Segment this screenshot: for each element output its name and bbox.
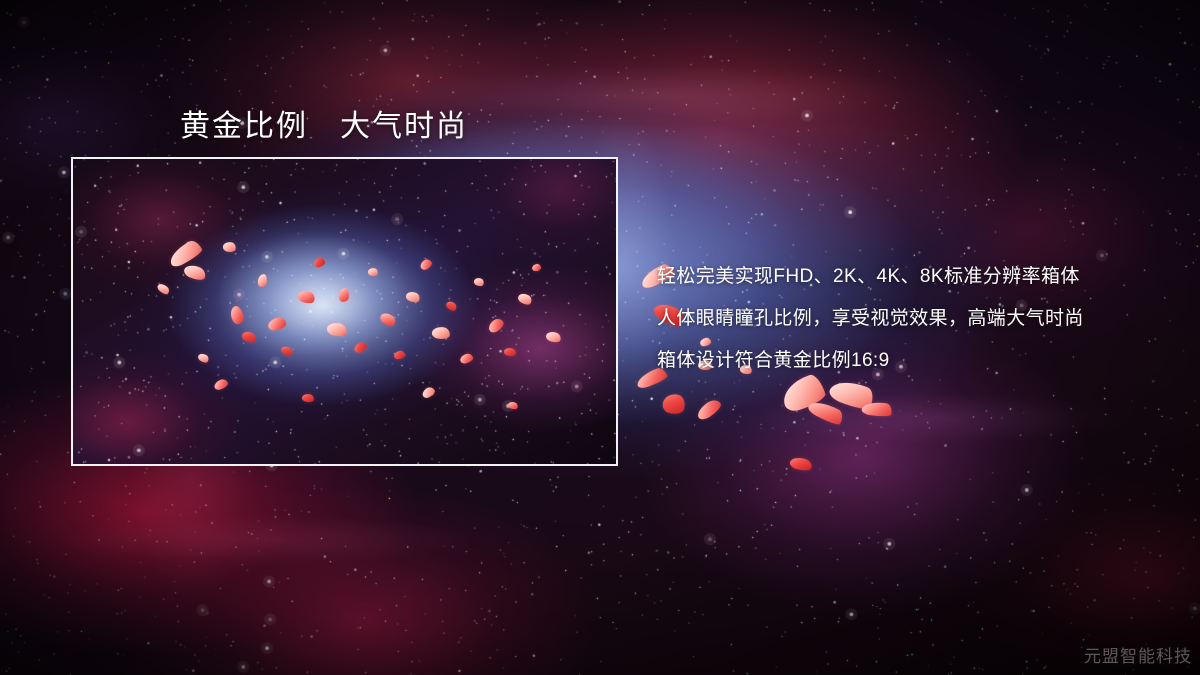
preview-frame (71, 157, 618, 466)
petal (789, 456, 813, 473)
page-title: 黄金比例 大气时尚 (180, 101, 468, 145)
body-line: 轻松完美实现FHD、2K、4K、8K标准分辨率箱体 (657, 256, 1177, 298)
frame-starfield (73, 159, 618, 466)
watermark: 元盟智能科技 (1084, 642, 1192, 667)
slide-canvas: 黄金比例 大气时尚 轻松完美实现FHD、2K、4K、8K标准分辨率箱体 人体眼睛… (0, 0, 1200, 675)
body-line: 人体眼睛瞳孔比例，享受视觉效果，高端大气时尚 (657, 298, 1177, 340)
petal (695, 397, 724, 422)
body-line: 箱体设计符合黄金比例16:9 (657, 340, 1177, 382)
body-copy: 轻松完美实现FHD、2K、4K、8K标准分辨率箱体 人体眼睛瞳孔比例，享受视觉效… (657, 256, 1177, 382)
petal (661, 391, 688, 416)
